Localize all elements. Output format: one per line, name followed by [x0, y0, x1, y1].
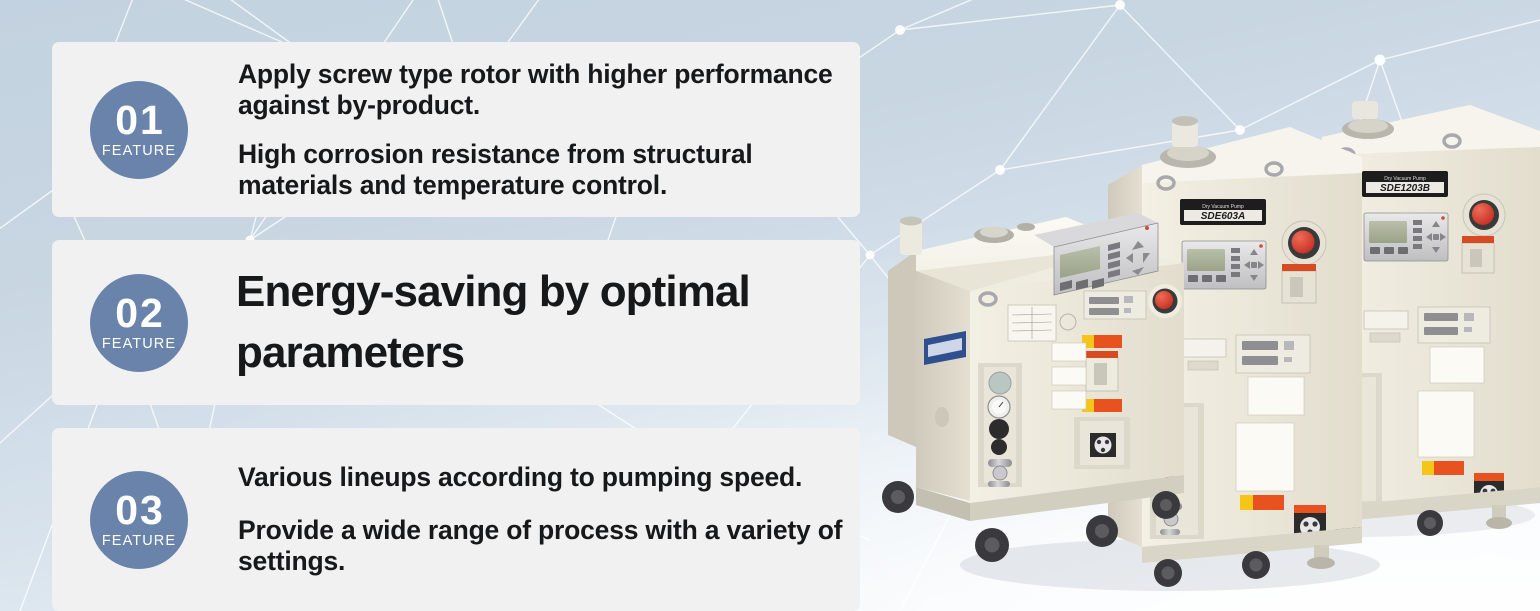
feature-headline: Energy-saving by optimal parameters [236, 262, 860, 383]
feature-paragraph: High corrosion resistance from structura… [238, 139, 860, 201]
feature-card-03: 03 FEATURE Various lineups according to … [52, 428, 860, 611]
feature-paragraph: Apply screw type rotor with higher perfo… [238, 59, 860, 121]
feature-badge-02: 02 FEATURE [90, 274, 188, 372]
feature-label: FEATURE [102, 144, 176, 159]
feature-text-01: Apply screw type rotor with higher perfo… [238, 59, 860, 201]
product-photo-vacuum-pumps: Dry Vacuum Pump SDE1203B [870, 95, 1540, 611]
feature-label: FEATURE [102, 534, 176, 549]
feature-list: 01 FEATURE Apply screw type rotor with h… [52, 42, 860, 611]
feature-paragraph: Provide a wide range of process with a v… [238, 515, 860, 577]
feature-badge-03: 03 FEATURE [90, 471, 188, 569]
feature-number: 02 [113, 293, 165, 334]
feature-number: 03 [113, 490, 165, 531]
feature-card-01: 01 FEATURE Apply screw type rotor with h… [52, 42, 860, 217]
feature-card-02: 02 FEATURE Energy-saving by optimal para… [52, 240, 860, 405]
feature-badge-01: 01 FEATURE [90, 81, 188, 179]
feature-number: 01 [113, 100, 165, 141]
feature-paragraph: Various lineups according to pumping spe… [238, 462, 860, 493]
feature-text-02: Energy-saving by optimal parameters [236, 262, 860, 383]
feature-text-03: Various lineups according to pumping spe… [238, 462, 860, 577]
feature-label: FEATURE [102, 337, 176, 352]
